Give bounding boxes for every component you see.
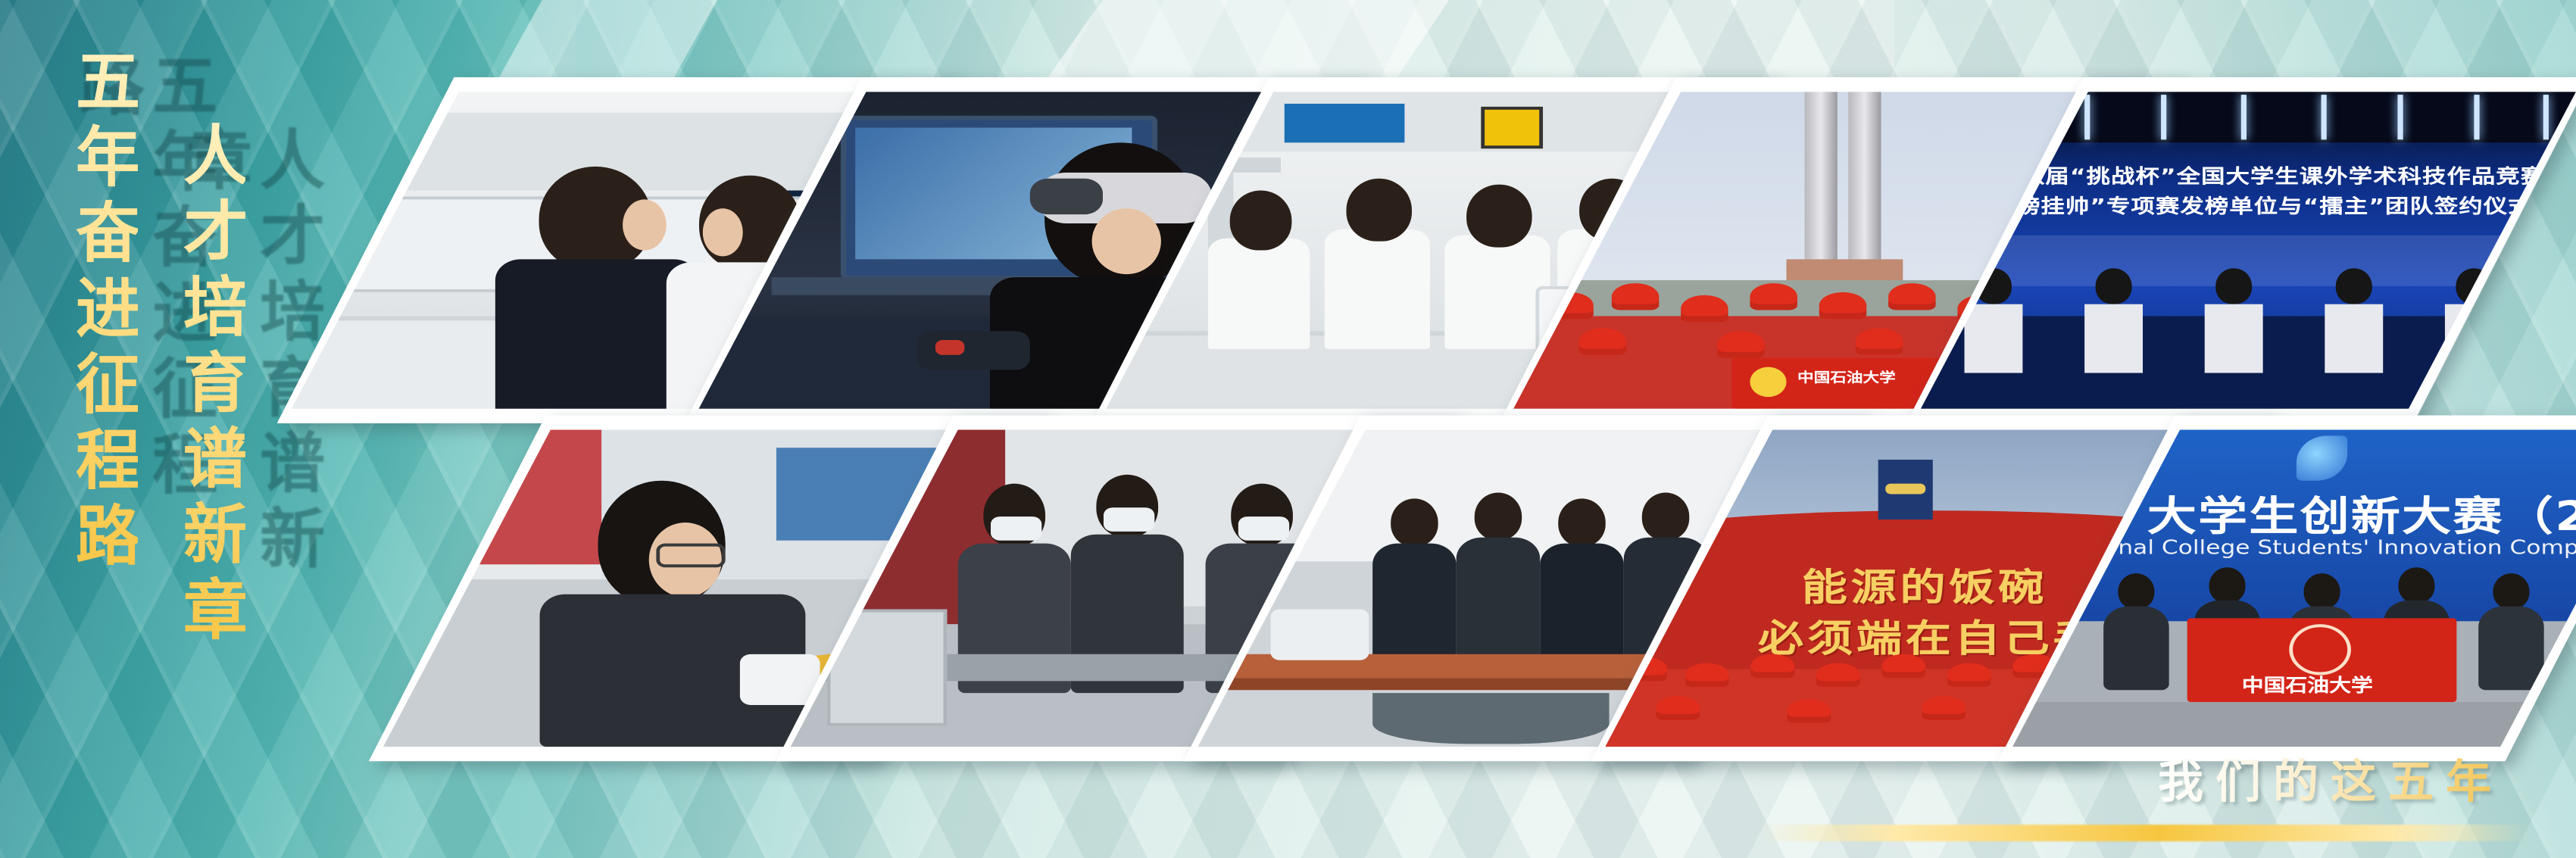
photo-tile-10[interactable]: 大学生创新大赛（2025） nal College Students' Inno… — [1998, 415, 2576, 761]
tile-10-flag-text: 中国石油大学 — [2242, 672, 2373, 698]
tile-10-scene: 大学生创新大赛（2025） nal College Students' Inno… — [2012, 430, 2576, 747]
tile-5-banner-line1: 第十八届“挑战杯”全国大学生课外学术科技作品竞赛 — [1972, 161, 2545, 189]
tile-5-banner-line2: “揭榜挂帅”专项赛发榜单位与“擂主”团队签约仪式 — [1975, 191, 2533, 220]
gold-accent-bar — [1758, 825, 2531, 841]
photo-grid: 中国石油大学 第十八届“挑战杯”全国大学生课外学术科技作品竞赛 “揭榜挂帅”专项… — [0, 0, 2576, 858]
tile-5-scene: 第十八届“挑战杯”全国大学生课外学术科技作品竞赛 “揭榜挂帅”专项赛发榜单位与“… — [1921, 92, 2576, 409]
poster-canvas: 五年奋进征程路 五年奋进征程路 人才培育谱新章 人才培育谱新章 — [0, 0, 2576, 858]
tile-10-flag: 中国石油大学 — [2187, 618, 2457, 702]
tile-10-banner-line2: nal College Students' Innovation Competi… — [2118, 538, 2576, 560]
tile-4-flag-text: 中国石油大学 — [1797, 367, 1896, 387]
poster-caption: 我们的这五年 — [2158, 745, 2503, 811]
photo-tile-5[interactable]: 第十八届“挑战杯”全国大学生课外学术科技作品竞赛 “揭榜挂帅”专项赛发榜单位与“… — [1906, 77, 2576, 423]
tile-10-banner-line1: 大学生创新大赛（2025） — [2147, 484, 2576, 542]
